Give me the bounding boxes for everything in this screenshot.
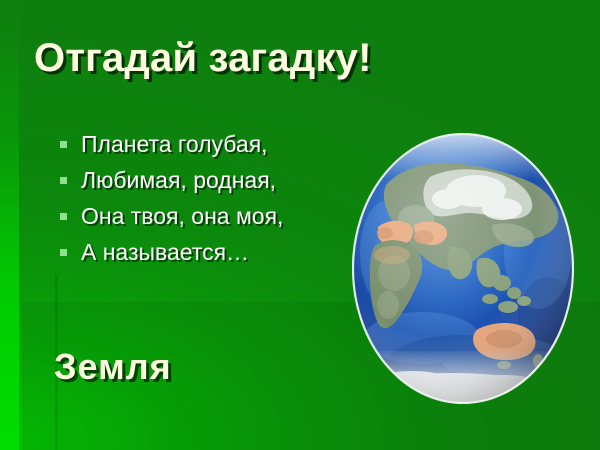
- answer-text: Земля: [54, 346, 172, 388]
- bullet-square-icon: [60, 141, 67, 148]
- bullet-square-icon: [60, 213, 67, 220]
- list-item: А называется…: [60, 234, 283, 270]
- bullet-square-icon: [60, 177, 67, 184]
- riddle-line-text: Планета голубая,: [81, 131, 268, 158]
- list-item: Она твоя, она моя,: [60, 198, 283, 234]
- riddle-list: Планета голубая, Любимая, родная, Она тв…: [60, 126, 283, 270]
- earth-globe-icon: [352, 133, 574, 404]
- slide-canvas: Отгадай загадку! Планета голубая, Любима…: [0, 0, 600, 450]
- left-accent-strip: [0, 0, 19, 450]
- riddle-line-text: А называется…: [81, 239, 249, 266]
- riddle-line-text: Любимая, родная,: [81, 167, 276, 194]
- riddle-line-text: Она твоя, она моя,: [81, 203, 283, 230]
- page-title: Отгадай загадку!: [34, 36, 372, 81]
- earth-globe-image: [352, 133, 574, 404]
- bullet-square-icon: [60, 249, 67, 256]
- list-item: Любимая, родная,: [60, 162, 283, 198]
- list-item: Планета голубая,: [60, 126, 283, 162]
